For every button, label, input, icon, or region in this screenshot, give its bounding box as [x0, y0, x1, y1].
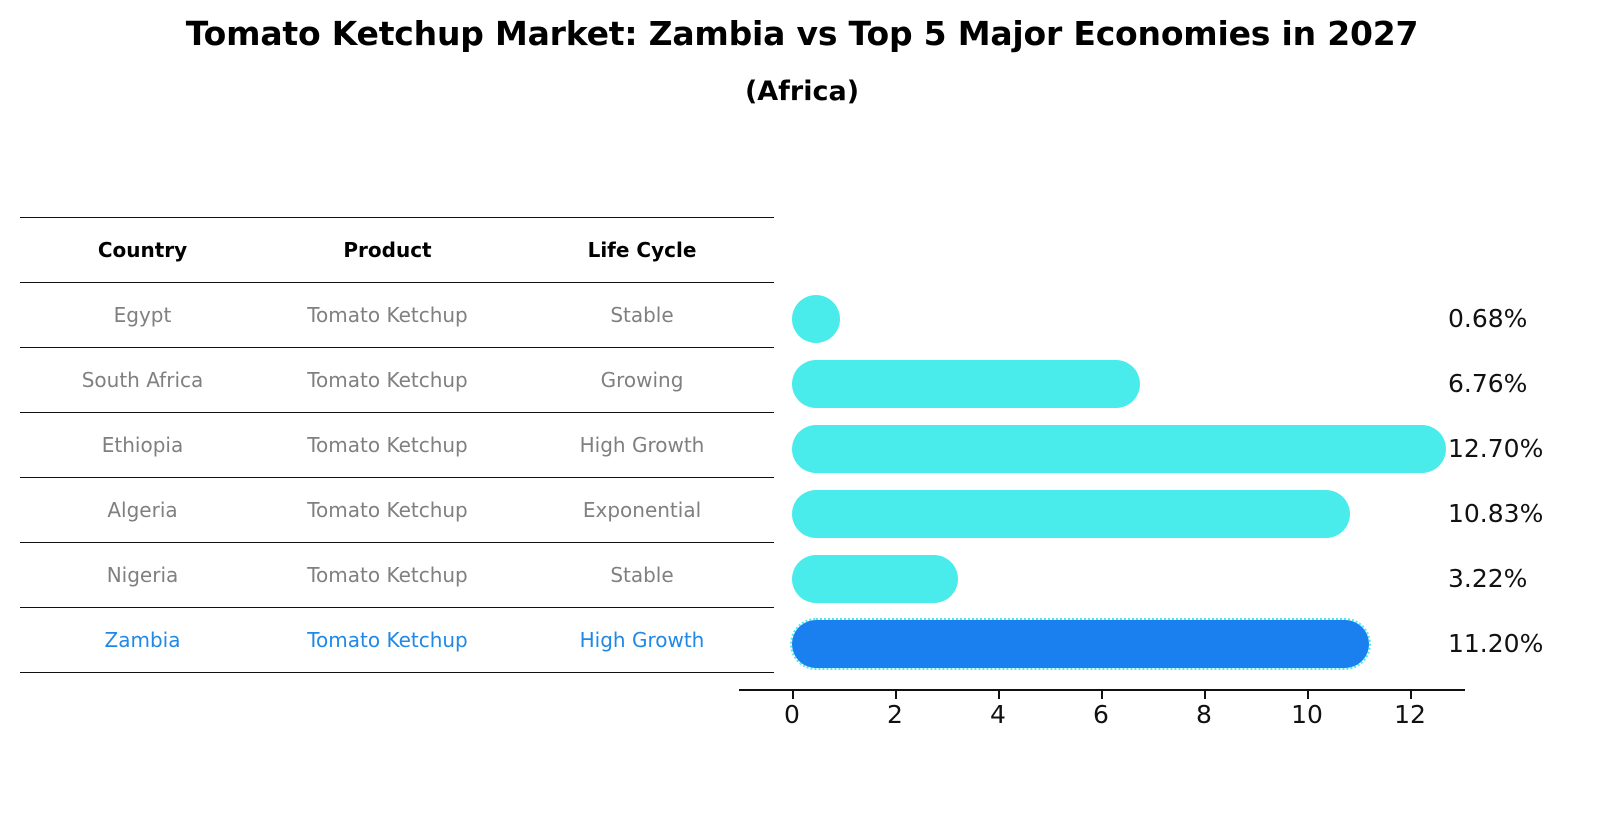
country-cell: South Africa — [20, 348, 265, 413]
country-cell: Egypt — [20, 283, 265, 348]
x-tick-mark — [1101, 690, 1103, 699]
column-header-country: Country — [20, 218, 265, 283]
title-line-main: Tomato Ketchup Market: Zambia vs Top 5 M… — [0, 12, 1604, 56]
bar-highlight[interactable] — [792, 620, 1369, 668]
table-header-row: Country Product Life Cycle — [20, 218, 774, 283]
bar[interactable] — [792, 295, 840, 343]
bar-row — [792, 555, 1604, 603]
life-cycle-cell: High Growth — [510, 608, 774, 673]
table-row: South AfricaTomato KetchupGrowing — [20, 348, 774, 413]
x-tick-mark — [895, 690, 897, 699]
life-cycle-cell: Stable — [510, 283, 774, 348]
product-cell: Tomato Ketchup — [265, 413, 510, 478]
bar[interactable] — [792, 555, 958, 603]
x-tick-label: 2 — [865, 700, 925, 729]
bar[interactable] — [792, 360, 1140, 408]
product-cell: Tomato Ketchup — [265, 283, 510, 348]
x-tick-label: 6 — [1071, 700, 1131, 729]
bar[interactable] — [792, 425, 1446, 473]
bar-row — [792, 295, 1604, 343]
column-header-life-cycle: Life Cycle — [510, 218, 774, 283]
product-cell: Tomato Ketchup — [265, 348, 510, 413]
column-header-product: Product — [265, 218, 510, 283]
life-cycle-cell: Stable — [510, 543, 774, 608]
bar-row — [792, 620, 1604, 668]
bar-row — [792, 360, 1604, 408]
country-cell: Algeria — [20, 478, 265, 543]
table-row: AlgeriaTomato KetchupExponential — [20, 478, 774, 543]
product-cell: Tomato Ketchup — [265, 478, 510, 543]
x-tick-mark — [1307, 690, 1309, 699]
table-row: EthiopiaTomato KetchupHigh Growth — [20, 413, 774, 478]
table-row: ZambiaTomato KetchupHigh Growth — [20, 608, 774, 673]
life-cycle-cell: Exponential — [510, 478, 774, 543]
x-tick-mark — [1410, 690, 1412, 699]
country-cell: Nigeria — [20, 543, 265, 608]
data-table: Country Product Life Cycle EgyptTomato K… — [20, 217, 774, 673]
life-cycle-cell: Growing — [510, 348, 774, 413]
x-tick-label: 0 — [762, 700, 822, 729]
page-title: Tomato Ketchup Market: Zambia vs Top 5 M… — [0, 12, 1604, 114]
x-tick-mark — [1204, 690, 1206, 699]
x-tick-label: 8 — [1174, 700, 1234, 729]
x-tick-label: 10 — [1277, 700, 1337, 729]
x-tick-label: 4 — [968, 700, 1028, 729]
table-row: NigeriaTomato KetchupStable — [20, 543, 774, 608]
bar-row — [792, 490, 1604, 538]
table-body: EgyptTomato KetchupStableSouth AfricaTom… — [20, 283, 774, 673]
bar[interactable] — [792, 490, 1350, 538]
x-axis-line — [739, 689, 1465, 691]
country-cell: Zambia — [20, 608, 265, 673]
x-tick-mark — [998, 690, 1000, 699]
title-line-region: (Africa) — [0, 70, 1604, 114]
x-tick-mark — [792, 690, 794, 699]
x-tick-label: 12 — [1380, 700, 1440, 729]
table-row: EgyptTomato KetchupStable — [20, 283, 774, 348]
life-cycle-cell: High Growth — [510, 413, 774, 478]
bar-row — [792, 425, 1604, 473]
country-cell: Ethiopia — [20, 413, 265, 478]
country-table: Country Product Life Cycle EgyptTomato K… — [20, 217, 774, 673]
product-cell: Tomato Ketchup — [265, 608, 510, 673]
product-cell: Tomato Ketchup — [265, 543, 510, 608]
